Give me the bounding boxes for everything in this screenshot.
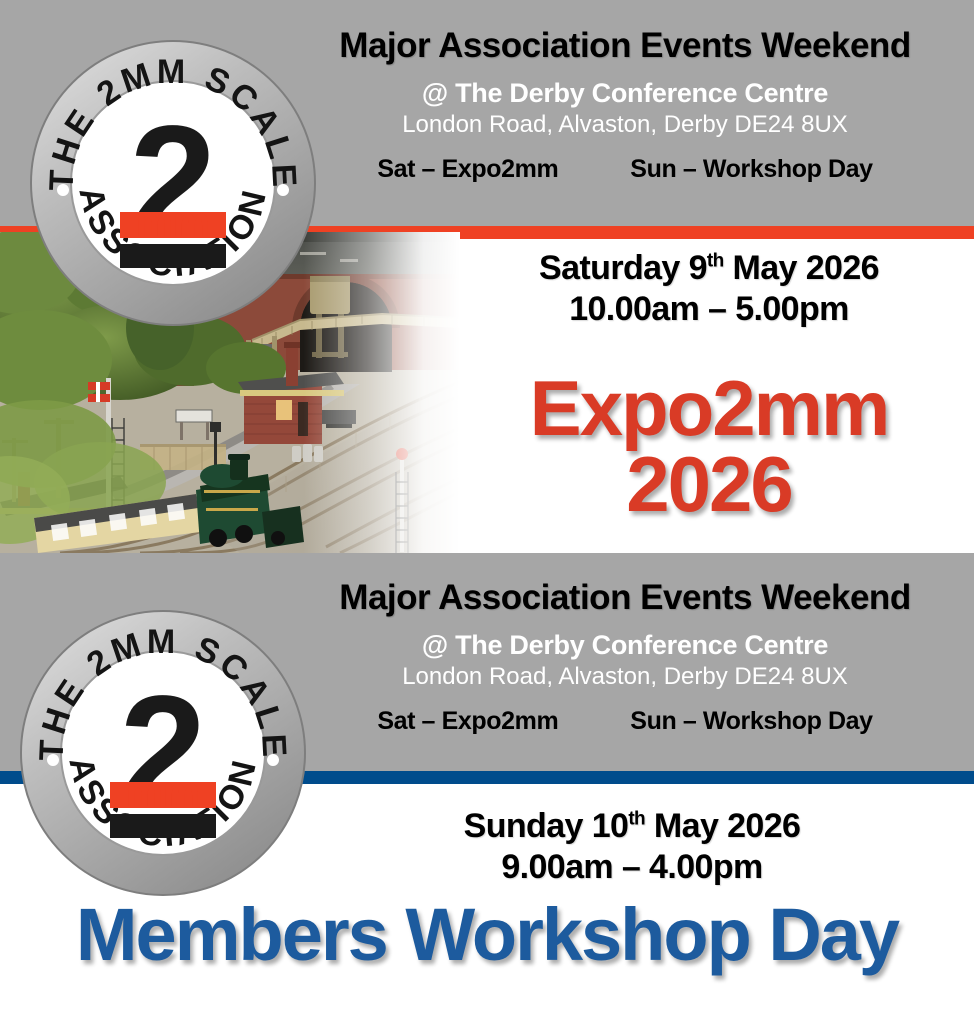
event-title-top: Major Association Events Weekend bbox=[286, 26, 964, 66]
expo-headline: Expo2mm 2026 bbox=[444, 370, 974, 523]
header-block-top: Major Association Events Weekend @ The D… bbox=[286, 26, 964, 184]
sunday-times: 9.00am – 4.00pm bbox=[290, 847, 974, 888]
header-block-bottom: Major Association Events Weekend @ The D… bbox=[286, 578, 964, 736]
day-summary-row-top: Sat – Expo2mm Sun – Workshop Day bbox=[286, 155, 964, 184]
sunday-date-line: Sunday 10th May 2026 bbox=[290, 806, 974, 847]
saturday-date-suffix: May 2026 bbox=[724, 249, 879, 287]
venue-address-bottom: London Road, Alvaston, Derby DE24 8UX bbox=[286, 663, 964, 691]
workshop-headline-line1: Members Workshop Day bbox=[0, 898, 974, 972]
association-logo-bottom: THE 2MM SCALE ASSOCIATION 2 mm bbox=[18, 608, 308, 898]
saturday-times: 10.00am – 5.00pm bbox=[444, 289, 974, 330]
event-title-bottom: Major Association Events Weekend bbox=[286, 578, 964, 618]
sunday-date-ordinal: th bbox=[628, 809, 645, 830]
venue-address-top: London Road, Alvaston, Derby DE24 8UX bbox=[286, 111, 964, 139]
expo-headline-line2: 2026 bbox=[444, 446, 974, 522]
sunday-date-block: Sunday 10th May 2026 9.00am – 4.00pm bbox=[290, 806, 974, 889]
svg-text:mm: mm bbox=[126, 768, 201, 815]
venue-name-top: @ The Derby Conference Centre bbox=[286, 78, 964, 109]
expo-headline-line1: Expo2mm bbox=[444, 370, 974, 446]
svg-text:mm: mm bbox=[136, 198, 211, 245]
workshop-headline: Members Workshop Day bbox=[0, 898, 974, 972]
day-sunday-label-top: Sun – Workshop Day bbox=[630, 155, 872, 184]
sunday-date-suffix: May 2026 bbox=[645, 807, 800, 845]
day-summary-row-bottom: Sat – Expo2mm Sun – Workshop Day bbox=[286, 707, 964, 736]
day-saturday-label-bottom: Sat – Expo2mm bbox=[377, 707, 558, 736]
sunday-date-prefix: Sunday 10 bbox=[464, 807, 629, 845]
saturday-date-prefix: Saturday 9 bbox=[539, 249, 707, 287]
saturday-date-block: Saturday 9th May 2026 10.00am – 5.00pm bbox=[444, 248, 974, 331]
day-saturday-label-top: Sat – Expo2mm bbox=[377, 155, 558, 184]
day-sunday-label-bottom: Sun – Workshop Day bbox=[630, 707, 872, 736]
saturday-date-line: Saturday 9th May 2026 bbox=[444, 248, 974, 289]
saturday-date-ordinal: th bbox=[707, 251, 724, 272]
association-logo-top: THE 2MM SCALE ASSOCIATION 2 mm bbox=[28, 38, 318, 328]
event-poster: THE 2MM SCALE ASSOCIATION 2 mm bbox=[0, 0, 974, 1012]
venue-name-bottom: @ The Derby Conference Centre bbox=[286, 630, 964, 661]
